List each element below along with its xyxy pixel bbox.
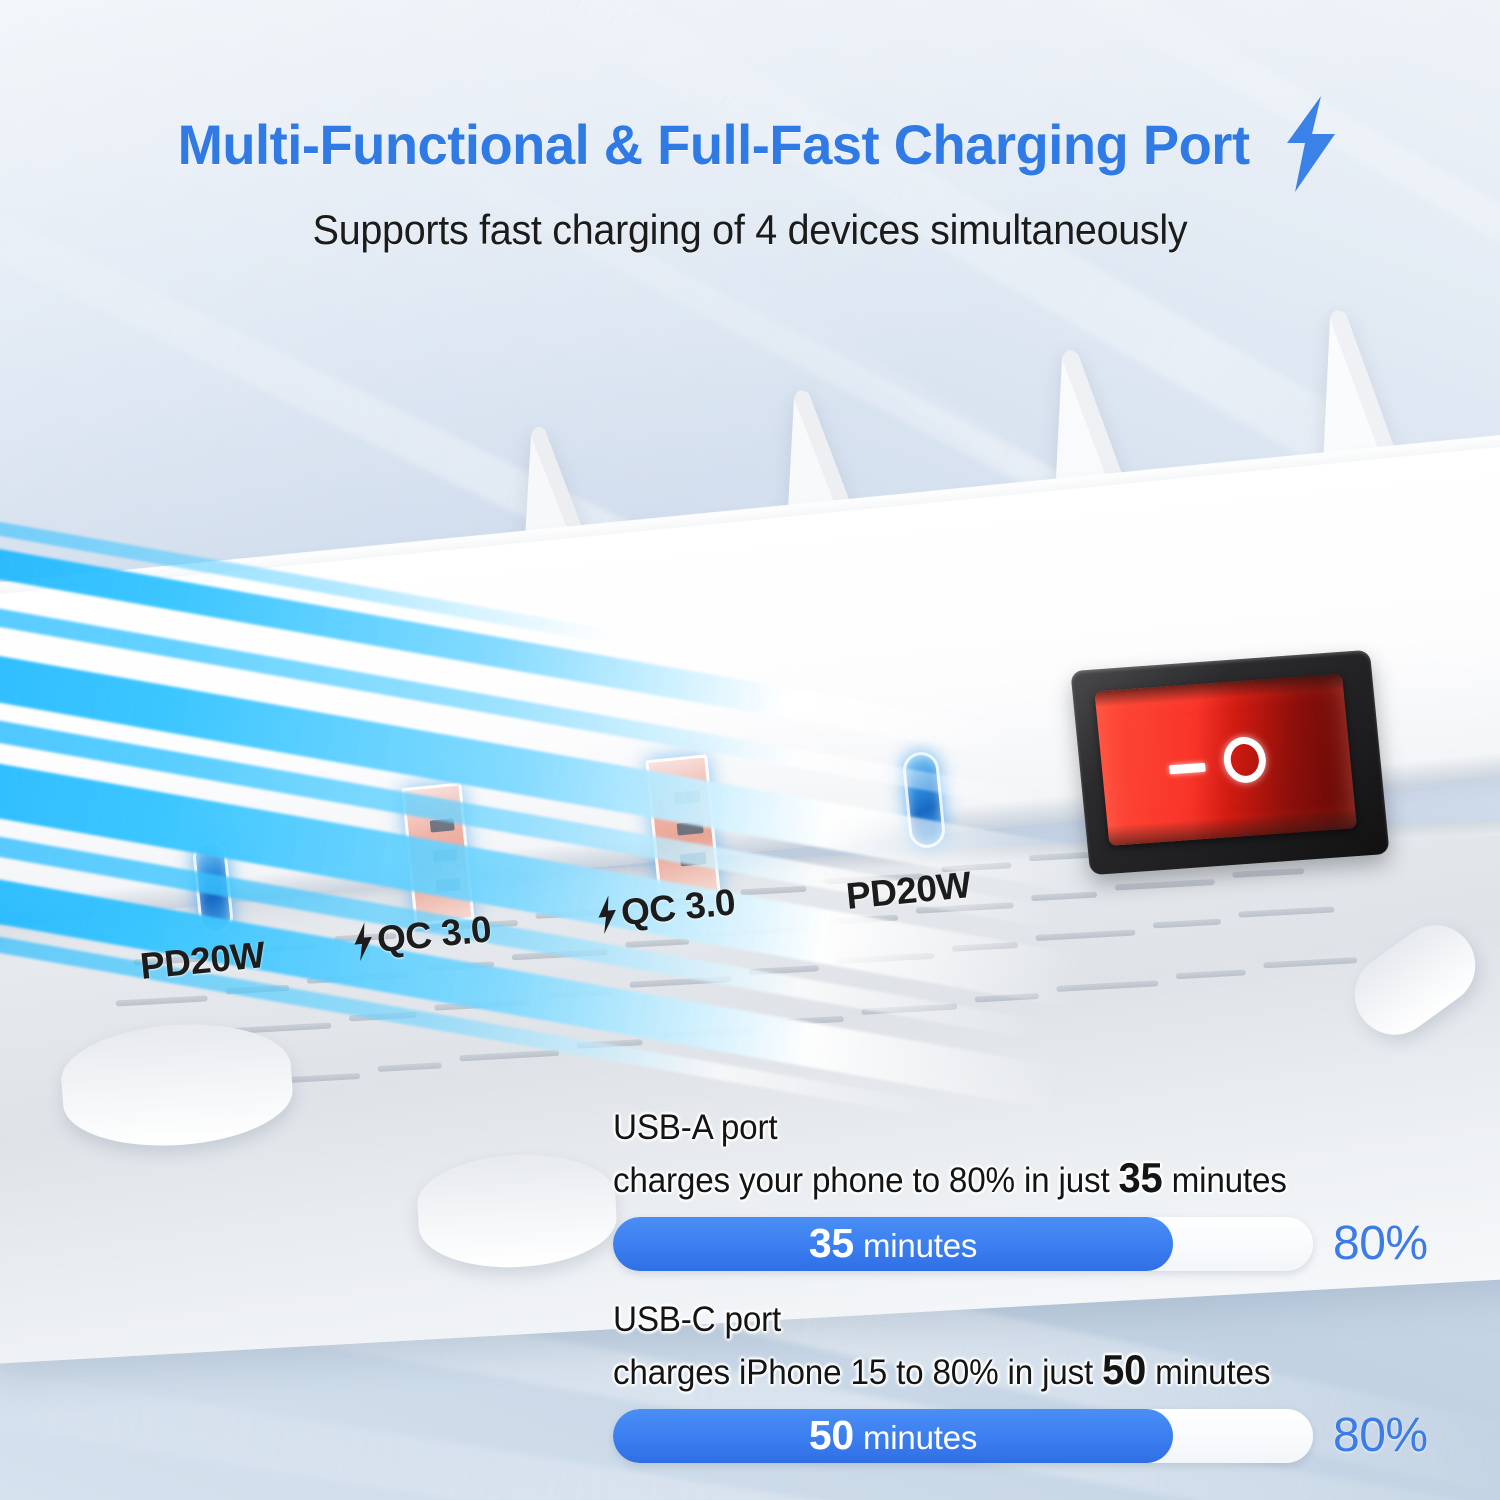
spec-progress-row: 35 minutes 80% bbox=[613, 1216, 1428, 1271]
page-title: Multi-Functional & Full-Fast Charging Po… bbox=[178, 112, 1250, 177]
spec-description: charges iPhone 15 to 80% in just 50 minu… bbox=[613, 1346, 1387, 1394]
spec-description: charges your phone to 80% in just 35 min… bbox=[613, 1154, 1387, 1202]
progress-bar-label: 35 minutes bbox=[809, 1220, 977, 1267]
progress-percent-label: 80% bbox=[1333, 1216, 1428, 1271]
page-subtitle: Supports fast charging of 4 devices simu… bbox=[45, 206, 1455, 254]
progress-bar-track[interactable]: 35 minutes bbox=[613, 1217, 1313, 1271]
switch-on-marking-icon bbox=[1169, 763, 1206, 775]
spec-port-title: USB-A port bbox=[613, 1108, 1387, 1148]
lightning-bolt-icon bbox=[350, 922, 376, 962]
spec-desc-strong: 50 bbox=[1102, 1346, 1146, 1393]
header: Multi-Functional & Full-Fast Charging Po… bbox=[0, 0, 1500, 254]
progress-value-number: 50 bbox=[809, 1412, 854, 1458]
spec-port-title: USB-C port bbox=[613, 1300, 1387, 1340]
progress-bar-track[interactable]: 50 minutes bbox=[613, 1409, 1313, 1463]
switch-rocker-face bbox=[1094, 674, 1357, 846]
spec-desc-strong: 35 bbox=[1119, 1154, 1163, 1201]
spec-desc-post: minutes bbox=[1163, 1161, 1287, 1200]
spec-block-usb-c: USB-C port charges iPhone 15 to 80% in j… bbox=[613, 1300, 1428, 1463]
progress-value-unit: minutes bbox=[854, 1419, 977, 1456]
lightning-bolt-icon bbox=[1281, 96, 1339, 192]
progress-value-number: 35 bbox=[809, 1220, 854, 1266]
progress-bar-fill: 35 minutes bbox=[613, 1217, 1173, 1271]
title-row: Multi-Functional & Full-Fast Charging Po… bbox=[0, 0, 1500, 192]
progress-percent-label: 80% bbox=[1333, 1408, 1428, 1463]
progress-value-unit: minutes bbox=[854, 1227, 977, 1264]
spec-progress-row: 50 minutes 80% bbox=[613, 1408, 1428, 1463]
spec-desc-post: minutes bbox=[1146, 1353, 1270, 1392]
spec-block-usb-a: USB-A port charges your phone to 80% in … bbox=[613, 1108, 1428, 1271]
switch-off-marking-icon bbox=[1221, 735, 1267, 784]
progress-bar-fill: 50 minutes bbox=[613, 1409, 1173, 1463]
spec-desc-pre: charges your phone to 80% in just bbox=[613, 1161, 1119, 1200]
spec-desc-pre: charges iPhone 15 to 80% in just bbox=[613, 1353, 1102, 1392]
lightning-bolt-icon bbox=[594, 895, 620, 935]
progress-bar-label: 50 minutes bbox=[809, 1412, 977, 1459]
power-rocker-switch[interactable] bbox=[1070, 650, 1389, 875]
